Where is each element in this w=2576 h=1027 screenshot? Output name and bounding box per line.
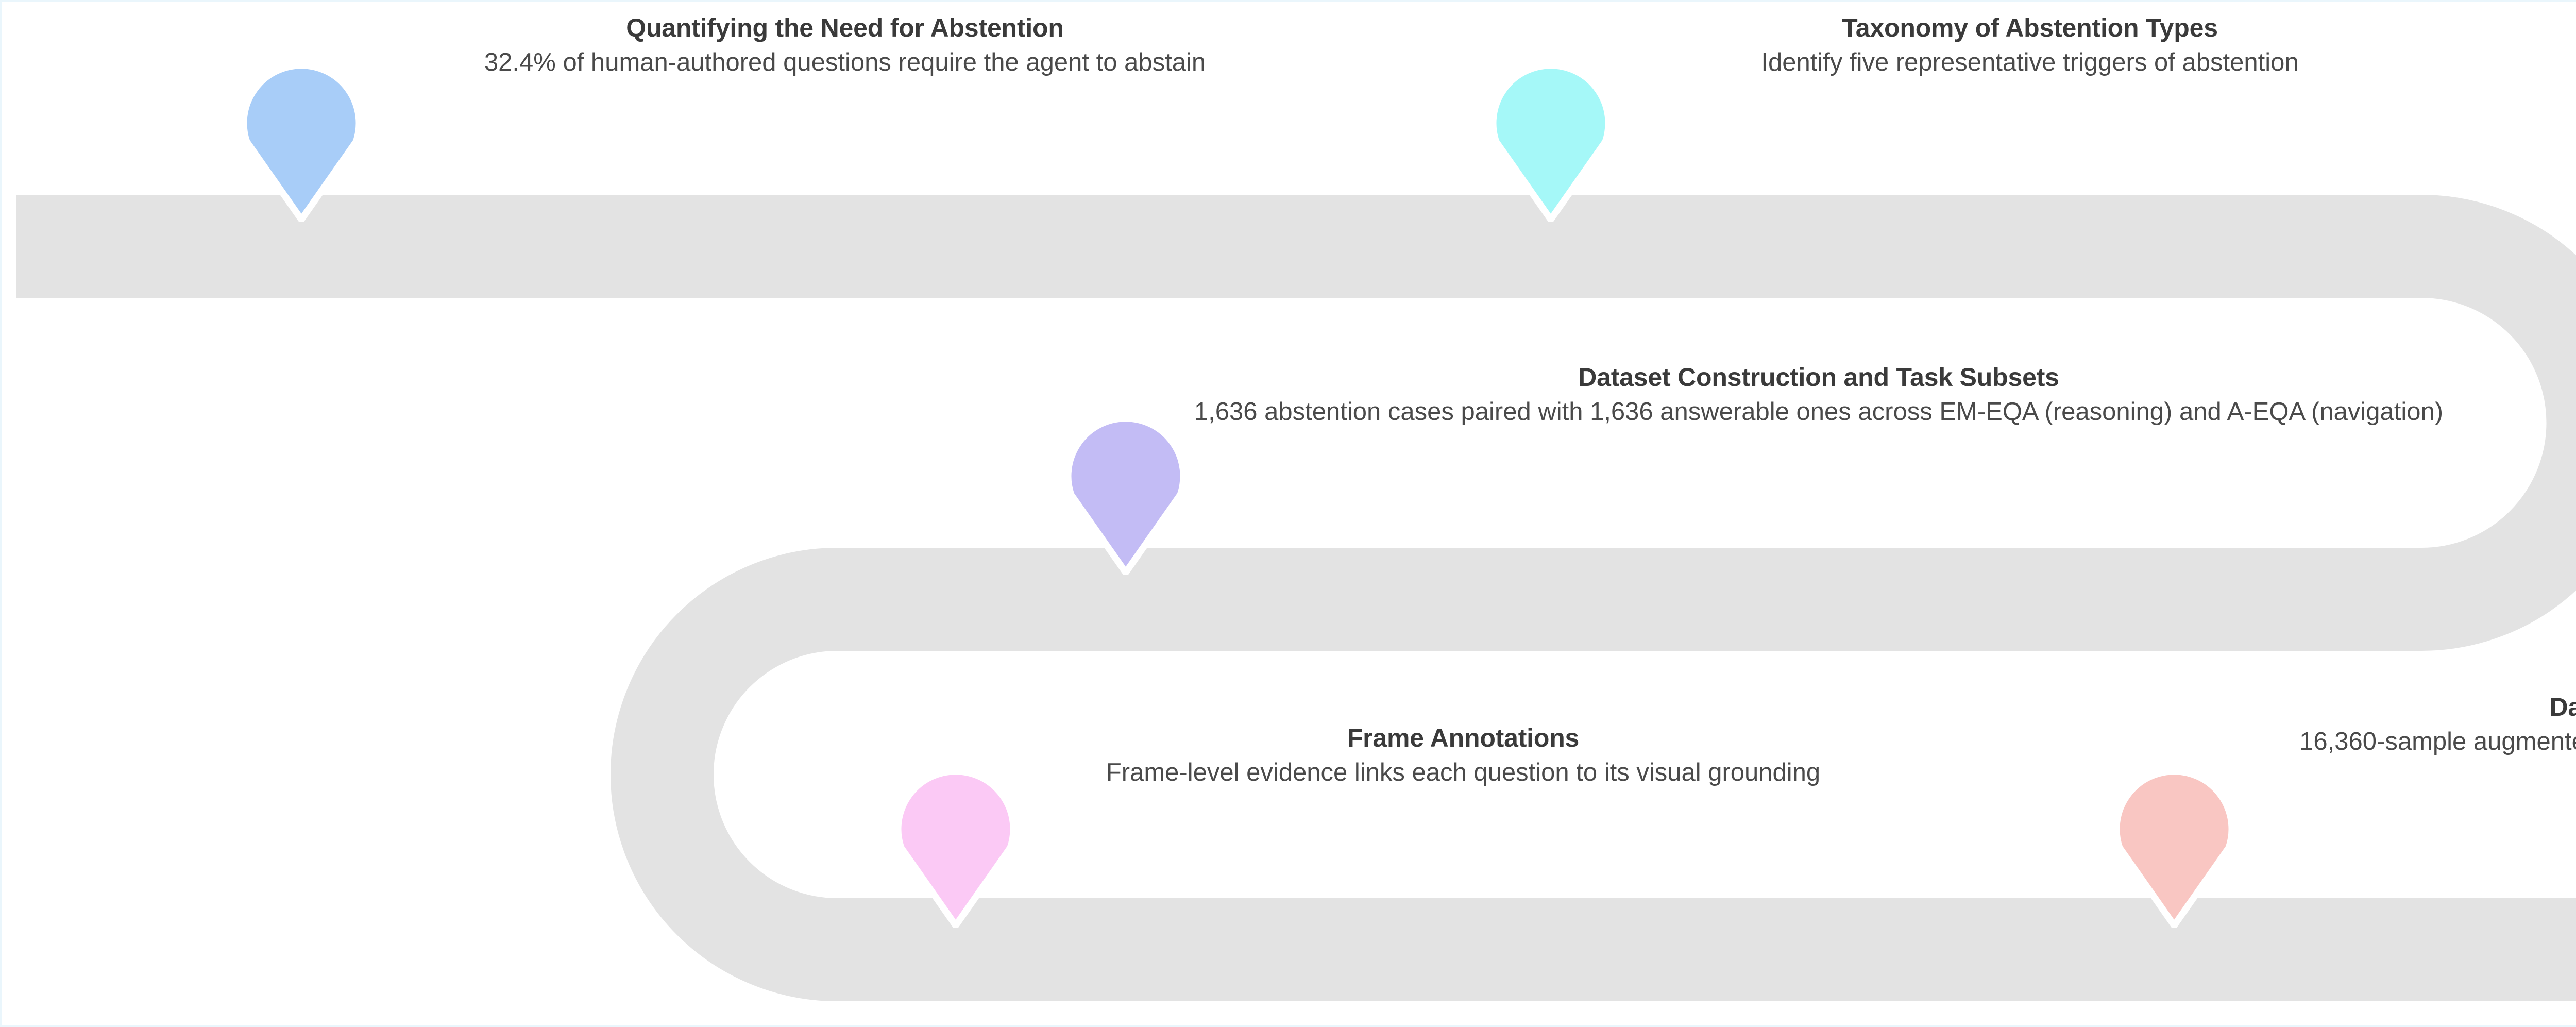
map-pin-blue [241, 52, 362, 222]
milestone-title: Data Augmentation [2264, 691, 2576, 724]
milestone-callout-taxonomy-of-abstention-types: Taxonomy of Abstention Types Identify fi… [1628, 11, 2432, 79]
map-pin-pink [895, 757, 1016, 928]
map-pin-cyan [1490, 52, 1612, 222]
milestone-title: Quantifying the Need for Abstention [392, 11, 1298, 45]
milestone-callout-data-augmentation: Data Augmentation 16,360-sample augmente… [2264, 691, 2576, 791]
milestone-callout-quantifying-the-need-for-abstention: Quantifying the Need for Abstention 32.4… [392, 11, 1298, 79]
milestone-description: 32.4% of human-authored questions requir… [392, 46, 1298, 79]
infographic-canvas: Quantifying the Need for Abstention 32.4… [0, 0, 2576, 1027]
milestone-description: 1,636 abstention cases paired with 1,636… [1175, 396, 2463, 429]
milestone-title: Taxonomy of Abstention Types [1628, 11, 2432, 45]
map-pin-salmon [2113, 757, 2235, 928]
milestone-description: Frame-level evidence links each question… [1077, 756, 1850, 789]
map-pin-purple [1065, 405, 1187, 575]
milestone-title: Dataset Construction and Task Subsets [1175, 361, 2463, 394]
milestone-description: Identify five representative triggers of… [1628, 46, 2432, 79]
milestone-callout-dataset-construction-and-task-subsets: Dataset Construction and Task Subsets 1,… [1175, 361, 2463, 429]
milestone-callout-frame-annotations: Frame Annotations Frame-level evidence l… [1077, 721, 1850, 789]
milestone-title: Frame Annotations [1077, 721, 1850, 755]
milestone-description: 16,360-sample augmented dataset for stud… [2264, 726, 2576, 791]
